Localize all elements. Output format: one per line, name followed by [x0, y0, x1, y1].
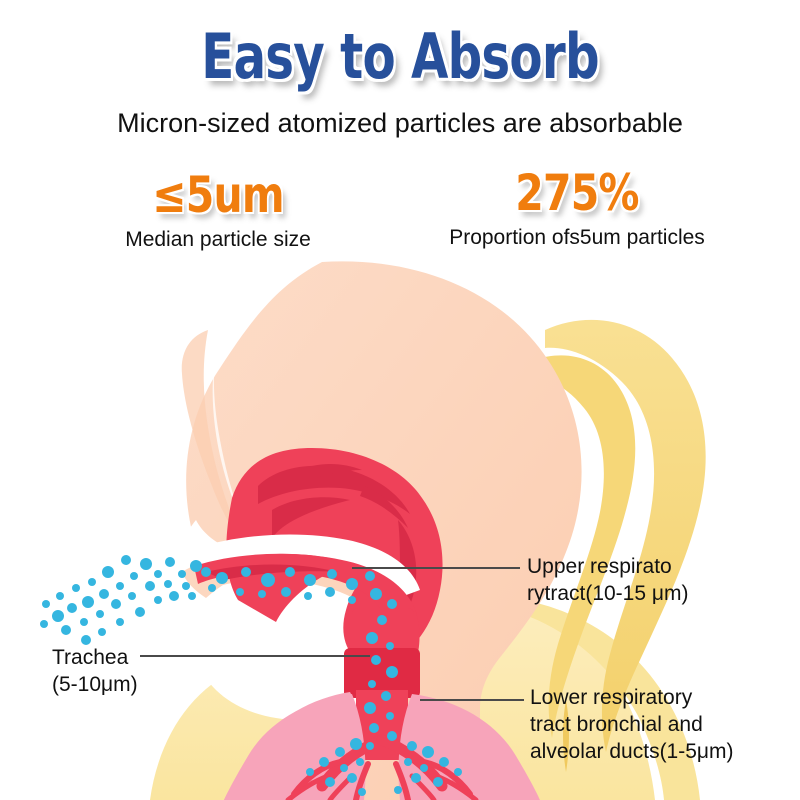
stat-median-particle-size: ≤5um Median particle size: [38, 168, 398, 253]
callout-lower-respiratory-tract: Lower respiratory tract bronchial and al…: [530, 684, 798, 765]
stat-proportion: 275% Proportion ofs5um particles: [392, 166, 762, 251]
callout-upper-respiratory-tract: Upper respirato rytract(10-15 μm): [527, 553, 797, 607]
page-subtitle: Micron-sized atomized particles are abso…: [0, 106, 800, 140]
stat-value: ≤5um: [70, 168, 365, 222]
callout-trachea: Trachea (5-10μm): [52, 644, 242, 698]
infographic-page: Easy to Absorb Micron-sized atomized par…: [0, 0, 800, 800]
stat-value: 275%: [425, 166, 728, 220]
stat-label: Median particle size: [38, 227, 398, 253]
page-title: Easy to Absorb: [88, 22, 712, 92]
stat-label: Proportion ofs5um particles: [392, 225, 762, 251]
